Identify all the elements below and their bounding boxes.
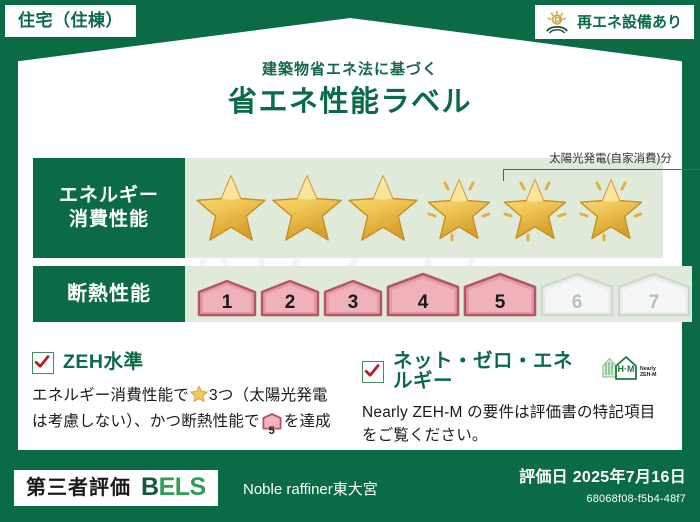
zeh-standard-header: ZEH水準 (32, 352, 352, 374)
insulation-performance-body: 1 2 3 (185, 266, 692, 322)
zeh-standard-block: ZEH水準 エネルギー消費性能で3つ（太陽光発電は考慮しない）、かつ断熱性能で5… (32, 352, 352, 438)
net-zero-energy-title: ネット・ゼロ・エネルギー (393, 352, 585, 391)
evaluation-id: 68068f08-f5b4-48f7 (586, 494, 686, 505)
solar-bracket (503, 169, 700, 181)
insulation-grade-2: 2 (259, 279, 321, 317)
page-title: 建築物省エネ法に基づく 省エネ性能ラベル (0, 62, 700, 117)
zeh-body-part2: 3つ（太陽光発電 (209, 387, 328, 404)
zeh-body-part4: を達成 (284, 413, 331, 430)
net-zero-energy-header: ネット・ゼロ・エネルギー H·M Nearly ZEH-M (362, 352, 662, 391)
inline-insulation-badge: 5 (262, 413, 282, 437)
label-root: ハウスコム 住宅（住棟） 再エネ設備あり 建築物省エネ法に基づく (0, 0, 700, 522)
checkbox-checked-icon (362, 361, 384, 383)
star-filled-solar (497, 169, 573, 247)
inline-badge-value: 5 (262, 426, 282, 437)
property-name: Noble raffiner東大宮 (243, 482, 378, 497)
zeh-standard-title: ZEH水準 (63, 353, 144, 373)
insulation-grade-4: 4 (385, 272, 461, 317)
third-party-eval-label: 第三者評価 (26, 478, 131, 498)
energy-performance-label: エネルギー 消費性能 (33, 158, 185, 258)
svg-text:ZEH-M: ZEH-M (640, 372, 656, 378)
energy-label-line1: エネルギー (59, 184, 159, 208)
insulation-grade-3: 3 (322, 279, 384, 317)
energy-performance-body: 太陽光発電(自家消費)分 (185, 158, 663, 258)
insulation-performance-label: 断熱性能 (33, 266, 185, 322)
checkbox-checked-icon (32, 352, 54, 374)
renewable-equipment-badge: 再エネ設備あり (535, 5, 694, 39)
energy-star-rating (185, 169, 663, 247)
evaluation-date: 評価日 2025年7月16日 (519, 470, 686, 486)
insulation-grade-value: 1 (196, 293, 258, 312)
zeh-body-part1: エネルギー消費性能で (32, 387, 189, 404)
solar-power-annotation: 太陽光発電(自家消費)分 (503, 154, 700, 181)
star-filled (193, 169, 269, 247)
insulation-performance-row: 断熱性能 1 2 (33, 266, 663, 322)
insulation-grade-value: 6 (539, 293, 615, 312)
insulation-grade-5: 5 (462, 272, 538, 317)
net-zero-energy-block: ネット・ゼロ・エネルギー H·M Nearly ZEH-M Nearly ZEH… (362, 352, 662, 448)
renewable-badge-label: 再エネ設備あり (577, 15, 682, 30)
energy-performance-row: エネルギー 消費性能 太陽光発電(自家消費)分 (33, 158, 663, 258)
star-filled (345, 169, 421, 247)
page-main-title: 省エネ性能ラベル (0, 88, 700, 117)
energy-label-line2: 消費性能 (69, 208, 149, 232)
solar-annotation-text: 太陽光発電(自家消費)分 (503, 154, 700, 166)
insulation-grade-value: 3 (322, 293, 384, 312)
insulation-grade-7: 7 (616, 272, 692, 317)
insulation-grade-scale: 1 2 3 (185, 272, 692, 317)
building-type-tag: 住宅（住棟） (5, 5, 136, 37)
footer: 第三者評価 BELS Noble raffiner東大宮 評価日 2025年7月… (0, 456, 700, 522)
nearly-zeh-m-logo-icon: H·M Nearly ZEH-M (600, 354, 662, 389)
bels-certification-box: 第三者評価 BELS (14, 470, 218, 506)
page-subtitle: 建築物省エネ法に基づく (0, 62, 700, 77)
bels-logo: BELS (141, 475, 206, 500)
star-filled-solar (421, 169, 497, 247)
star-filled-solar (573, 169, 649, 247)
svg-text:H·M: H·M (618, 364, 635, 374)
insulation-grade-1: 1 (196, 279, 258, 317)
zeh-standard-body: エネルギー消費性能で3つ（太陽光発電は考慮しない）、かつ断熱性能で5を達成 (32, 384, 352, 438)
bels-logo-b: B (141, 473, 159, 501)
sun-icon (544, 10, 570, 34)
net-zero-energy-body: Nearly ZEH-M の要件は評価書の特記項目をご覧ください。 (362, 401, 662, 448)
insulation-grade-value: 5 (462, 293, 538, 312)
insulation-grade-6: 6 (539, 272, 615, 317)
inline-star-icon (190, 385, 208, 410)
insulation-grade-value: 2 (259, 293, 321, 312)
bels-logo-els: ELS (159, 473, 206, 501)
star-filled (269, 169, 345, 247)
insulation-grade-value: 4 (385, 293, 461, 312)
zeh-body-part3: は考慮しない）、かつ断熱性能で (32, 413, 260, 430)
insulation-grade-value: 7 (616, 293, 692, 312)
